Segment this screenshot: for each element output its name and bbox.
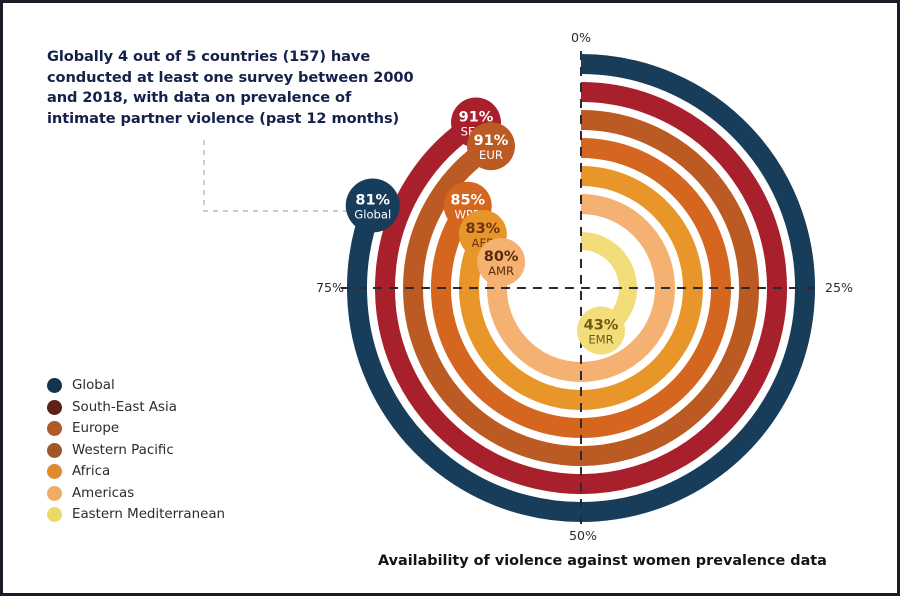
legend-color-dot — [47, 507, 62, 522]
chart-footer-title: Availability of violence against women p… — [378, 553, 827, 569]
callout-leader-line — [204, 140, 371, 211]
axis-label-bottom: 50% — [569, 528, 597, 543]
legend-item: South-East Asia — [47, 397, 225, 419]
legend-color-dot — [47, 400, 62, 415]
legend-color-dot — [47, 421, 62, 436]
axis-label-top: 0% — [571, 30, 591, 45]
axis-label-left: 75% — [316, 280, 344, 295]
bubble-percent-wpr: 85% — [450, 193, 485, 209]
leader-dashed-path — [204, 140, 371, 211]
legend-item-label: Global — [72, 378, 115, 393]
bubble-percent-afr: 83% — [465, 221, 500, 237]
bubble-code-eur: EUR — [479, 148, 503, 162]
legend-item-label: Western Pacific — [72, 443, 174, 458]
legend-color-dot — [47, 486, 62, 501]
legend-item: Africa — [47, 461, 225, 483]
legend-color-dot — [47, 464, 62, 479]
legend-item: Western Pacific — [47, 440, 225, 462]
bubble-percent-global: 81% — [355, 193, 390, 209]
bubble-percent-emr: 43% — [584, 318, 619, 334]
legend-color-dot — [47, 378, 62, 393]
bubble-code-emr: EMR — [588, 333, 613, 347]
legend-item: Global — [47, 375, 225, 397]
bubble-code-amr: AMR — [488, 264, 514, 278]
legend: GlobalSouth-East AsiaEuropeWestern Pacif… — [47, 375, 225, 526]
axis-label-right: 25% — [825, 280, 853, 295]
legend-item: Eastern Mediterranean — [47, 504, 225, 526]
legend-item-label: South-East Asia — [72, 400, 177, 415]
bubble-percent-amr: 80% — [484, 249, 519, 265]
legend-item-label: Eastern Mediterranean — [72, 507, 225, 522]
legend-item: Americas — [47, 483, 225, 505]
legend-item-label: Europe — [72, 421, 119, 436]
headline-text: Globally 4 out of 5 countries (157) have… — [47, 47, 419, 130]
legend-color-dot — [47, 443, 62, 458]
bubble-code-global: Global — [354, 208, 391, 222]
infographic-frame: 81%Global91%SEAR91%EUR85%WPR83%AFR80%AMR… — [0, 0, 900, 596]
legend-item-label: Americas — [72, 486, 134, 501]
legend-item-label: Africa — [72, 464, 110, 479]
bubble-percent-eur: 91% — [474, 133, 509, 149]
legend-item: Europe — [47, 418, 225, 440]
